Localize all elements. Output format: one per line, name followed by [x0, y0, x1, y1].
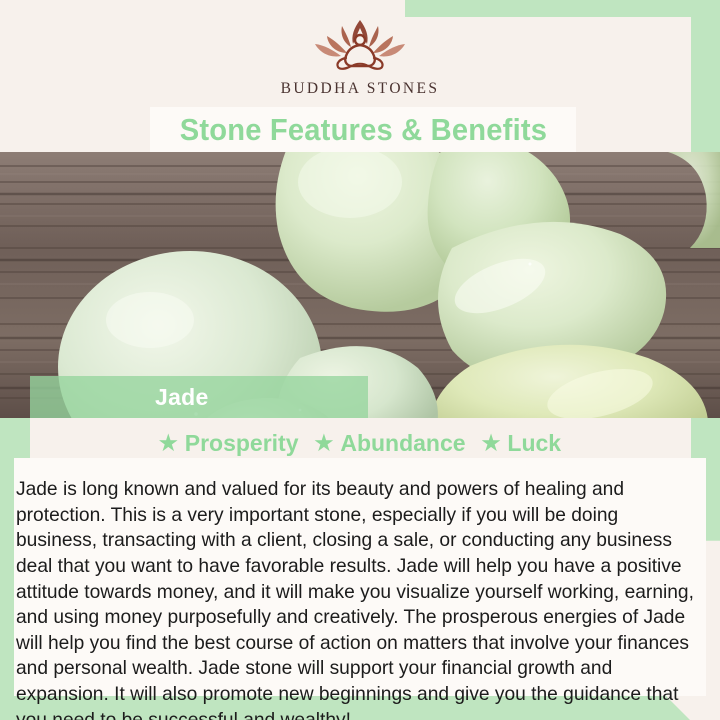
- star-icon: ★: [482, 433, 501, 454]
- brand-logo: BUDDHA STONES: [0, 14, 720, 106]
- stone-name-label: Jade: [155, 384, 209, 411]
- infographic-page: BUDDHA STONES Stone Features & Benefits: [0, 0, 720, 720]
- title-band: Stone Features & Benefits: [150, 107, 576, 152]
- description-panel: Jade is long known and valued for its be…: [14, 458, 706, 696]
- lotus-meditation-icon: [294, 14, 426, 78]
- page-title: Stone Features & Benefits: [179, 112, 546, 148]
- star-icon: ★: [159, 433, 178, 454]
- keyword-prosperity: ★ Prosperity: [159, 430, 299, 457]
- keyword-label: Luck: [507, 430, 561, 457]
- keyword-label: Abundance: [340, 430, 465, 457]
- stone-name-band: Jade: [30, 376, 368, 418]
- stone-photo: Jade: [0, 152, 720, 418]
- keyword-abundance: ★ Abundance: [315, 430, 466, 457]
- star-icon: ★: [315, 433, 334, 454]
- description-text: Jade is long known and valued for its be…: [16, 477, 704, 720]
- keyword-luck: ★ Luck: [482, 430, 562, 457]
- keyword-label: Prosperity: [185, 430, 299, 457]
- keyword-row: ★ Prosperity ★ Abundance ★ Luck: [0, 428, 720, 458]
- brand-name: BUDDHA STONES: [281, 80, 440, 98]
